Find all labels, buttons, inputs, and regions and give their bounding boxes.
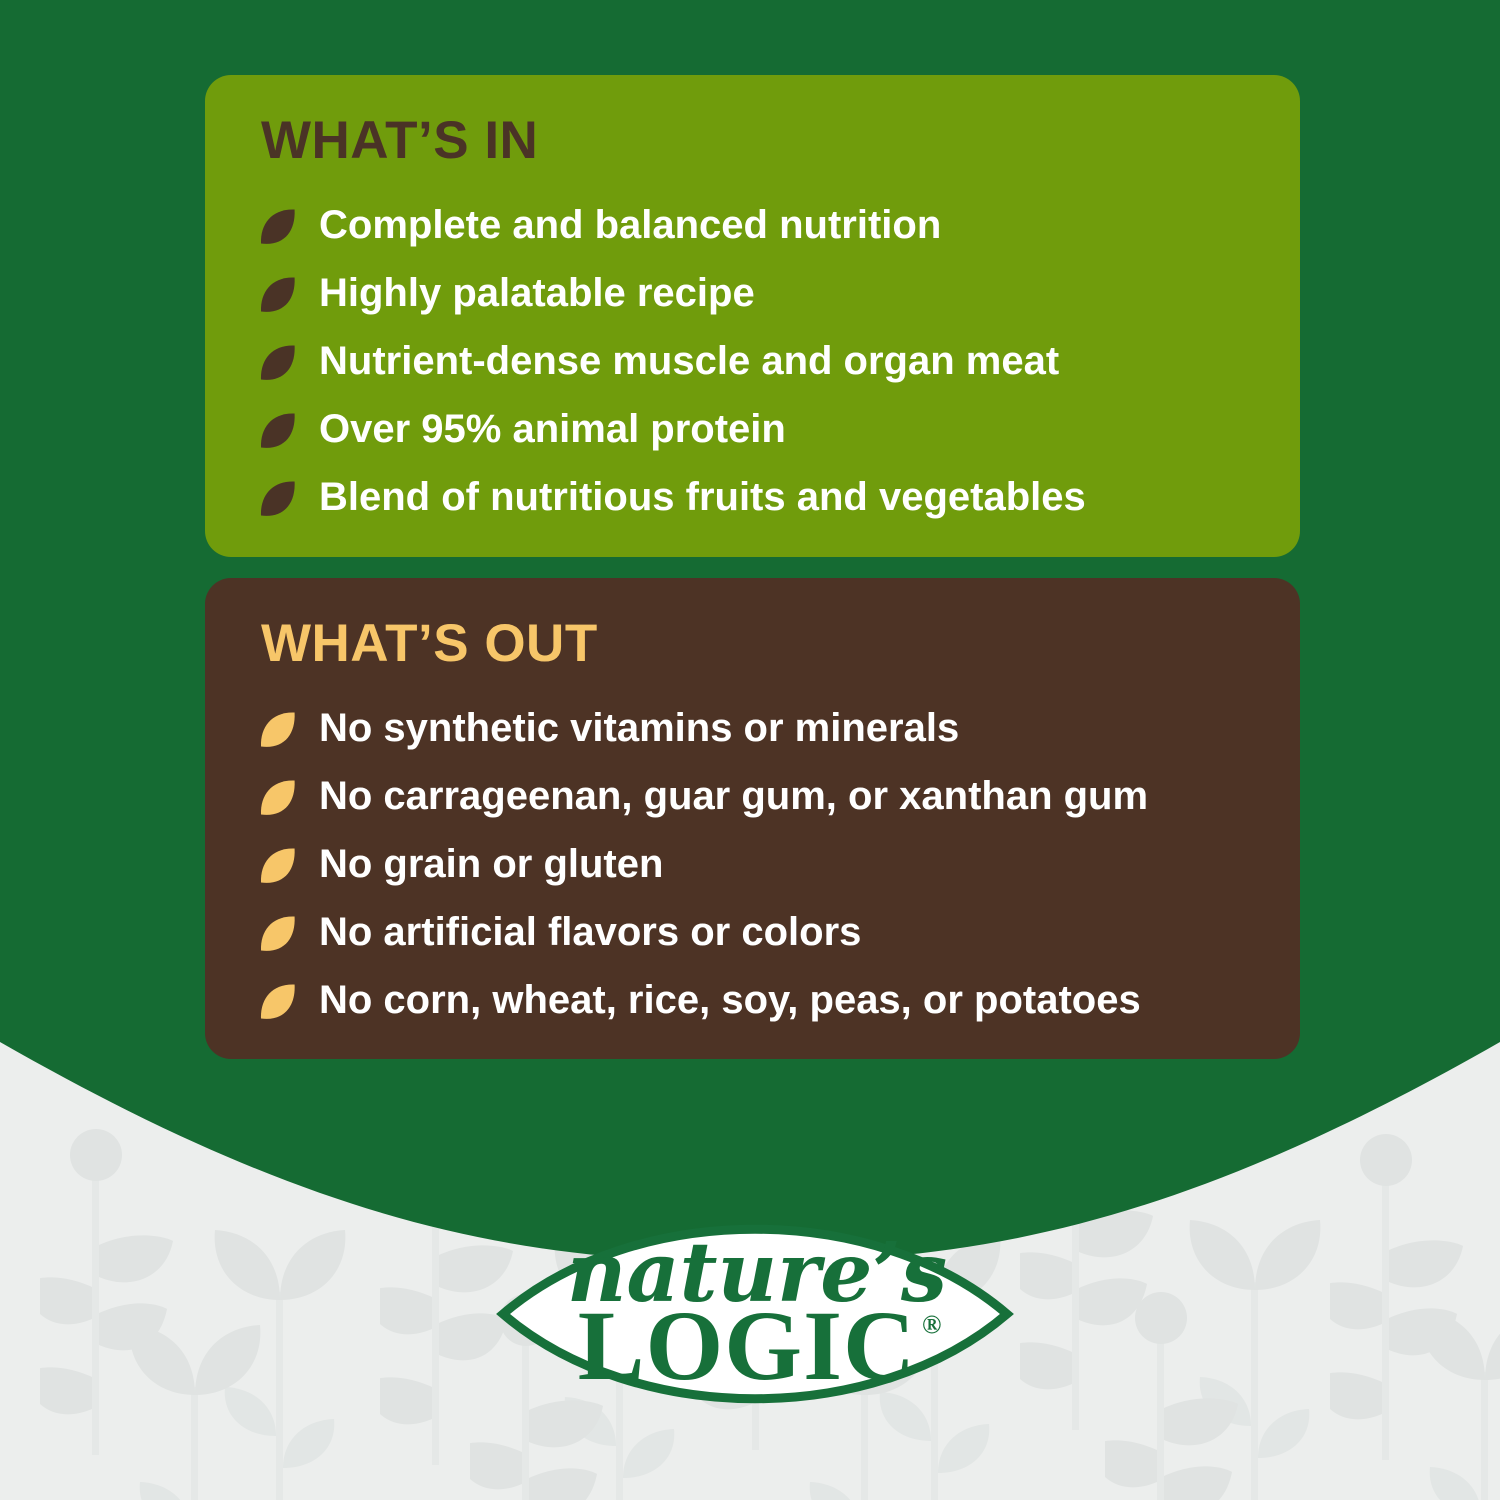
list-item: No synthetic vitamins or minerals [251,700,1258,758]
list-item-label: Highly palatable recipe [319,271,755,316]
leaf-icon [255,205,301,251]
leaf-icon [255,912,301,958]
list-item-label: No corn, wheat, rice, soy, peas, or pota… [319,978,1141,1023]
list-item: Blend of nutritious fruits and vegetable… [251,469,1258,527]
whats-in-list: Complete and balanced nutritionHighly pa… [251,197,1258,527]
leaf-icon [255,844,301,890]
list-item-label: Nutrient-dense muscle and organ meat [319,339,1059,384]
list-item: Complete and balanced nutrition [251,197,1258,255]
list-item-label: Complete and balanced nutrition [319,203,941,248]
leaf-icon [255,273,301,319]
whats-in-title: WHAT’S IN [261,113,1258,169]
whats-out-title: WHAT’S OUT [261,616,1258,672]
leaf-icon [255,980,301,1026]
list-item-label: Blend of nutritious fruits and vegetable… [319,475,1086,520]
list-item: No artificial flavors or colors [251,904,1258,962]
list-item-label: No grain or gluten [319,842,663,887]
list-item: No grain or gluten [251,836,1258,894]
list-item: Over 95% animal protein [251,401,1258,459]
whats-in-card: WHAT’S IN Complete and balanced nutritio… [205,75,1300,557]
logo-serif-word: LOGIC [578,1290,916,1401]
leaf-icon [255,341,301,387]
sprout-watermark-icon [120,1295,270,1500]
list-item: Highly palatable recipe [251,265,1258,323]
promo-graphic: WHAT’S IN Complete and balanced nutritio… [0,0,1500,1500]
natures-logic-logo: nature’s LOGIC ® [495,1183,1015,1445]
whats-out-card: WHAT’S OUT No synthetic vitamins or mine… [205,578,1300,1059]
sprout-watermark-icon [1410,1280,1500,1500]
leaf-icon [255,708,301,754]
list-item-label: Over 95% animal protein [319,407,786,452]
list-item-label: No synthetic vitamins or minerals [319,706,959,751]
list-item: No carrageenan, guar gum, or xanthan gum [251,768,1258,826]
logo-trademark-icon: ® [922,1310,941,1339]
whats-out-list: No synthetic vitamins or mineralsNo carr… [251,700,1258,1030]
leaf-icon [255,409,301,455]
leaf-icon [255,776,301,822]
sprout-watermark-icon [1105,1288,1255,1500]
list-item: Nutrient-dense muscle and organ meat [251,333,1258,391]
leaf-icon [255,477,301,523]
list-item-label: No carrageenan, guar gum, or xanthan gum [319,774,1148,819]
list-item-label: No artificial flavors or colors [319,910,861,955]
list-item: No corn, wheat, rice, soy, peas, or pota… [251,972,1258,1030]
